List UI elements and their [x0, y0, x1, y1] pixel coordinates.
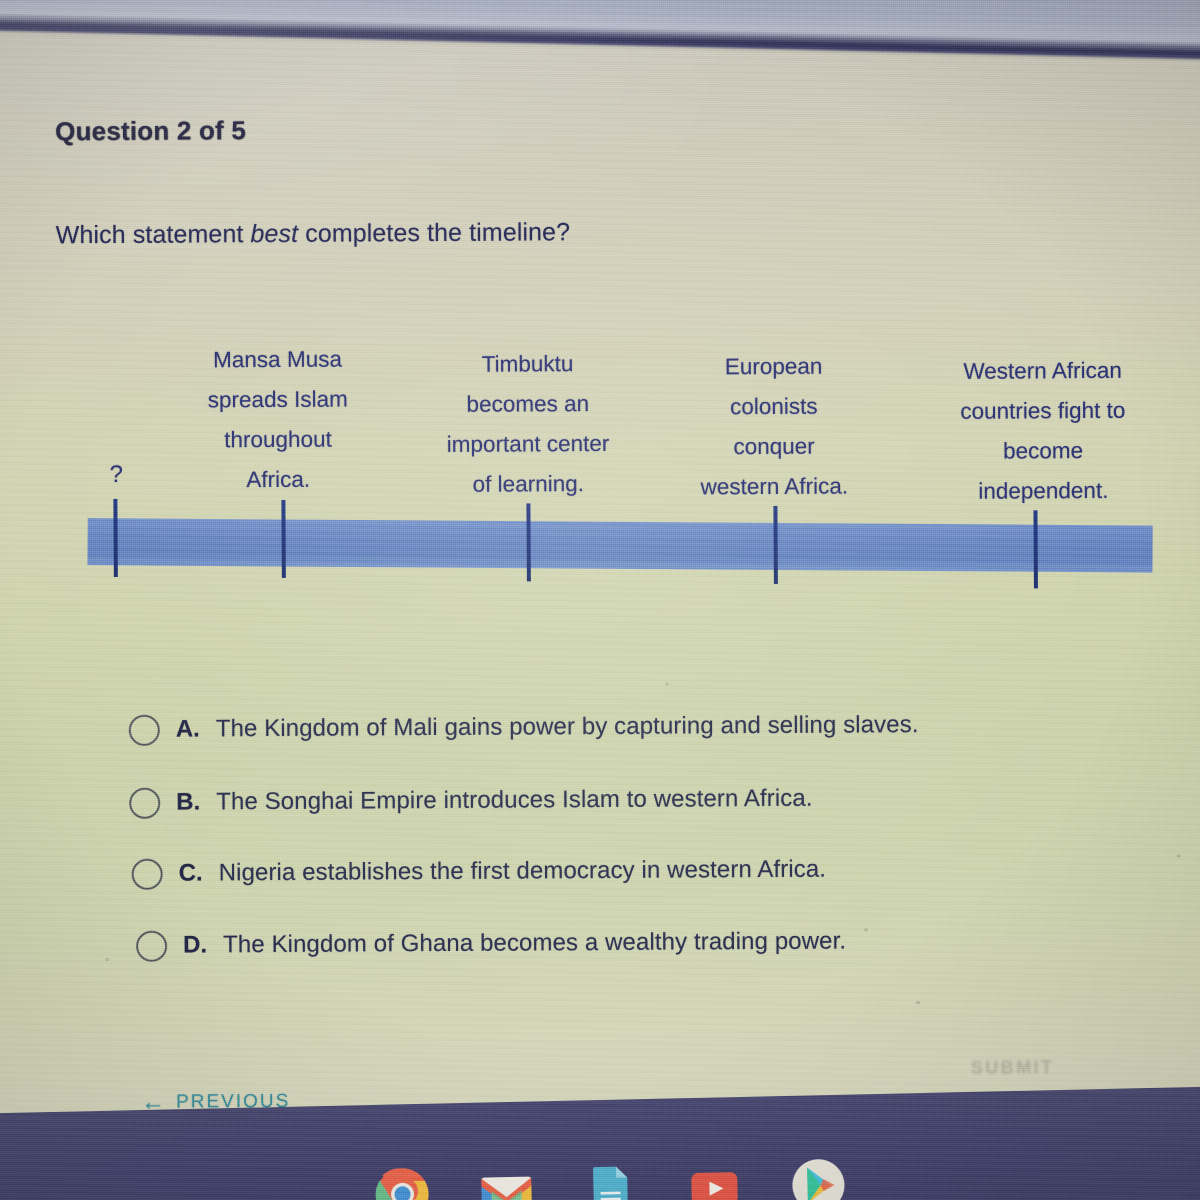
timeline-event-label-4: Western African countries fight to becom… [918, 351, 1167, 513]
timeline-event-3-line-2: colonists [659, 386, 889, 427]
option-letter-b: B. [176, 788, 216, 816]
timeline-event-1-line-3: throughout [165, 419, 391, 460]
question-emphasis: best [250, 220, 298, 248]
timeline-event-1-line-1: Mansa Musa [164, 339, 390, 380]
timeline-event-4-line-3: become [919, 431, 1167, 473]
option-text-b[interactable]: The Songhai Empire introduces Islam to w… [216, 785, 813, 817]
timeline-event-label-3: European colonists conquer western Afric… [658, 346, 889, 507]
question-suffix: completes the timeline? [298, 218, 570, 248]
timeline-event-3-line-1: European [658, 346, 888, 387]
submit-button-ghost[interactable]: SUBMIT [971, 1057, 1055, 1079]
timeline-event-4-line-1: Western African [918, 351, 1166, 393]
timeline-event-label-2: Timbuktu becomes an important center of … [402, 344, 653, 506]
question-prefix: Which statement [56, 220, 251, 249]
radio-button-c[interactable] [132, 858, 163, 889]
timeline-tick-1 [113, 499, 117, 577]
photo-speck [864, 928, 868, 931]
timeline-event-1-line-2: spreads Islam [165, 379, 391, 420]
radio-button-b[interactable] [129, 787, 160, 818]
option-row-d[interactable]: D. The Kingdom of Ghana becomes a wealth… [136, 919, 846, 969]
timeline-event-2-line-3: important center [403, 424, 653, 466]
timeline-tick-3 [526, 503, 530, 581]
timeline-event-2-line-4: of learning. [403, 464, 653, 506]
option-letter-c: C. [179, 859, 219, 887]
question-prompt: Which statement best completes the timel… [56, 218, 571, 250]
timeline-diagram: ? Mansa Musa spreads Islam throughout Af… [0, 326, 1200, 603]
photo-speck [666, 683, 669, 686]
timeline-tick-4 [773, 506, 777, 584]
answer-options-list: A. The Kingdom of Mali gains power by ca… [1, 686, 1200, 693]
photographed-screen: Question 2 of 5 Which statement best com… [0, 0, 1200, 1200]
page-title: Question 2 of 5 [55, 115, 246, 147]
timeline-event-4-line-4: independent. [919, 471, 1167, 513]
timeline-bar [87, 518, 1152, 572]
google-docs-icon[interactable] [582, 1161, 639, 1200]
option-letter-a: A. [176, 715, 216, 743]
option-row-a[interactable]: A. The Kingdom of Mali gains power by ca… [129, 702, 919, 753]
timeline-unknown-marker: ? [94, 461, 138, 489]
timeline-event-1-line-4: Africa. [165, 459, 391, 500]
timeline-event-2-line-2: becomes an [403, 384, 653, 426]
radio-button-a[interactable] [129, 714, 160, 745]
gmail-icon[interactable] [478, 1163, 535, 1200]
radio-button-d[interactable] [136, 930, 167, 961]
timeline-event-label-1: Mansa Musa spreads Islam throughout Afri… [164, 339, 391, 500]
timeline-event-4-line-2: countries fight to [919, 391, 1167, 433]
option-row-c[interactable]: C. Nigeria establishes the first democra… [132, 847, 827, 897]
timeline-tick-5 [1033, 510, 1037, 588]
option-row-b[interactable]: B. The Songhai Empire introduces Islam t… [129, 776, 813, 826]
photo-speck [915, 1001, 920, 1004]
quiz-content: Question 2 of 5 Which statement best com… [0, 0, 1200, 1200]
chrome-icon[interactable] [374, 1166, 431, 1200]
option-text-a[interactable]: The Kingdom of Mali gains power by captu… [216, 711, 919, 743]
play-store-icon[interactable] [790, 1157, 847, 1200]
option-text-d[interactable]: The Kingdom of Ghana becomes a wealthy t… [223, 928, 846, 960]
option-letter-d: D. [183, 931, 223, 959]
timeline-event-3-line-3: conquer [659, 426, 889, 467]
timeline-tick-2 [281, 500, 285, 578]
option-text-c[interactable]: Nigeria establishes the first democracy … [219, 856, 827, 888]
youtube-icon[interactable] [686, 1159, 743, 1200]
timeline-event-3-line-4: western Africa. [659, 466, 889, 507]
timeline-event-2-line-1: Timbuktu [402, 344, 652, 386]
photo-speck [1177, 854, 1181, 857]
photo-speck [105, 958, 109, 961]
